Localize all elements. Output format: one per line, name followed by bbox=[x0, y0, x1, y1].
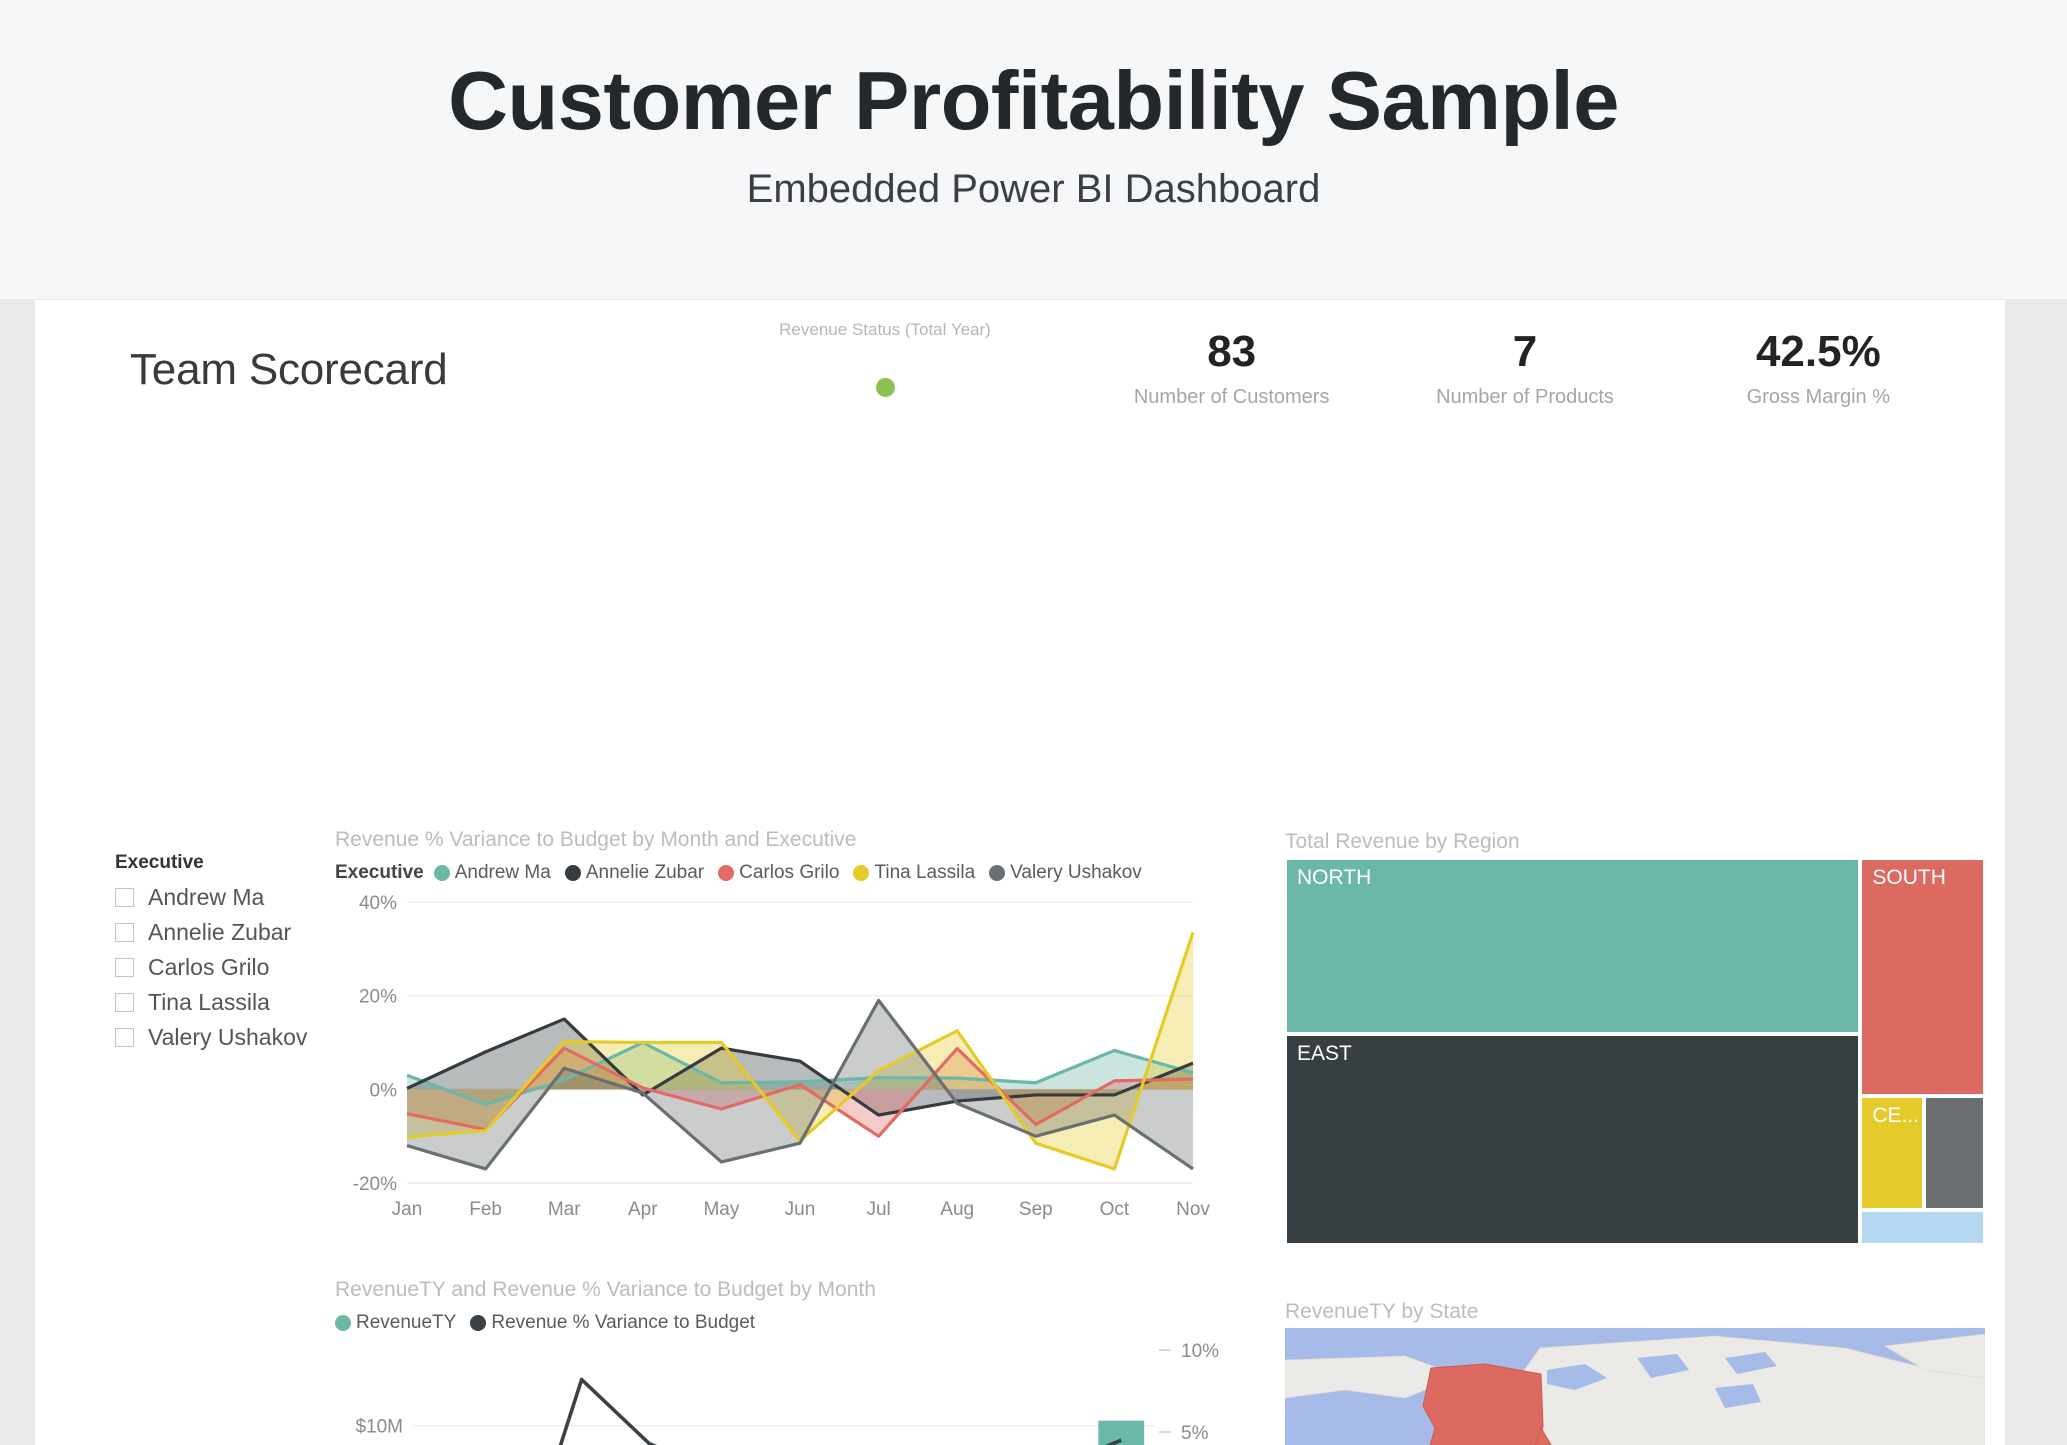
svg-text:Feb: Feb bbox=[469, 1199, 502, 1220]
slicer-item-label: Valery Ushakov bbox=[148, 1024, 307, 1051]
svg-text:5%: 5% bbox=[1181, 1423, 1209, 1444]
checkbox-icon[interactable] bbox=[115, 923, 134, 942]
legend-color-dot-icon bbox=[565, 865, 581, 881]
kpi-number-of-products[interactable]: 7 Number of Products bbox=[1378, 328, 1671, 409]
legend-color-dot-icon bbox=[989, 865, 1005, 881]
page-header: Customer Profitability Sample Embedded P… bbox=[0, 0, 2067, 300]
legend-item-carlos-grilo[interactable]: Carlos Grilo bbox=[718, 862, 839, 884]
svg-text:Oct: Oct bbox=[1100, 1199, 1130, 1220]
legend-item-valery-ushakov[interactable]: Valery Ushakov bbox=[989, 862, 1142, 884]
legend-color-dot-icon bbox=[335, 1315, 351, 1331]
area-chart-plot: -20%0%20%40%JanFebMarAprMayJunJulAugSepO… bbox=[335, 884, 1215, 1229]
page-subtitle: Embedded Power BI Dashboard bbox=[747, 167, 1321, 212]
treemap-cell-north[interactable]: NORTH bbox=[1285, 858, 1860, 1034]
slicer-item-label: Carlos Grilo bbox=[148, 954, 269, 981]
slicer-item-list: Andrew MaAnnelie ZubarCarlos GriloTina L… bbox=[115, 884, 335, 1051]
svg-text:Jun: Jun bbox=[785, 1199, 816, 1220]
slicer-item-label: Annelie Zubar bbox=[148, 919, 291, 946]
legend-item-label: Revenue % Variance to Budget bbox=[491, 1312, 755, 1334]
green-status-dot-icon bbox=[876, 378, 895, 397]
slicer-item-tina-lassila[interactable]: Tina Lassila bbox=[115, 989, 335, 1016]
combo-chart-plot: $0M$5M$10M-10%-5%0%5%10%JanFebMarAprMayJ… bbox=[335, 1334, 1275, 1445]
legend-item-annelie-zubar[interactable]: Annelie Zubar bbox=[565, 862, 704, 884]
svg-text:$10M: $10M bbox=[355, 1417, 403, 1438]
legend-item-label: Carlos Grilo bbox=[739, 862, 839, 884]
map-geometry bbox=[1285, 1328, 1985, 1445]
legend-item-label: Andrew Ma bbox=[455, 862, 551, 884]
kpi-label: Number of Products bbox=[1378, 386, 1671, 409]
visual-title: RevenueTY by State bbox=[1285, 1300, 1985, 1324]
treemap-cell[interactable] bbox=[1860, 1210, 1985, 1245]
kpi-value: 83 bbox=[1085, 328, 1378, 376]
kpi-gross-margin-pct[interactable]: 42.5% Gross Margin % bbox=[1672, 328, 1965, 409]
treemap-cell-ce[interactable]: CE... bbox=[1860, 1096, 1924, 1210]
svg-text:Mar: Mar bbox=[548, 1199, 581, 1220]
revenue-by-region-treemap[interactable]: Total Revenue by Region NORTHEASTSOUTHCE… bbox=[1285, 830, 1985, 1250]
svg-text:May: May bbox=[703, 1199, 739, 1220]
legend-item-revenue-variance-to-budget[interactable]: Revenue % Variance to Budget bbox=[470, 1312, 755, 1334]
scorecard-title: Team Scorecard bbox=[130, 345, 448, 395]
chart-legend[interactable]: ExecutiveAndrew MaAnnelie ZubarCarlos Gr… bbox=[335, 862, 1215, 884]
checkbox-icon[interactable] bbox=[115, 993, 134, 1012]
legend-color-dot-icon bbox=[470, 1315, 486, 1331]
kpi-value: 42.5% bbox=[1672, 328, 1965, 376]
legend-item-label: RevenueTY bbox=[356, 1312, 456, 1334]
treemap-cell[interactable] bbox=[1924, 1096, 1985, 1210]
treemap-cell-label: SOUTH bbox=[1872, 866, 1946, 890]
executive-slicer[interactable]: Executive Andrew MaAnnelie ZubarCarlos G… bbox=[115, 852, 335, 1059]
revenue-status-card[interactable]: Revenue Status (Total Year) bbox=[755, 320, 1015, 397]
svg-text:Aug: Aug bbox=[940, 1199, 974, 1220]
treemap-cell-south[interactable]: SOUTH bbox=[1860, 858, 1985, 1096]
svg-text:40%: 40% bbox=[359, 893, 397, 914]
visual-title: RevenueTY and Revenue % Variance to Budg… bbox=[335, 1278, 1275, 1302]
legend-item-andrew-ma[interactable]: Andrew Ma bbox=[434, 862, 551, 884]
legend-color-dot-icon bbox=[718, 865, 734, 881]
treemap-cell-label: NORTH bbox=[1297, 866, 1371, 890]
treemap-cell-label: CE... bbox=[1872, 1104, 1919, 1128]
report-container: Team Scorecard Revenue Status (Total Yea… bbox=[0, 300, 2067, 1445]
kpi-number-of-customers[interactable]: 83 Number of Customers bbox=[1085, 328, 1378, 409]
kpi-label: Gross Margin % bbox=[1672, 386, 1965, 409]
revenue-variance-area-chart[interactable]: Revenue % Variance to Budget by Month an… bbox=[335, 828, 1215, 1248]
powerbi-report-canvas[interactable]: Team Scorecard Revenue Status (Total Yea… bbox=[35, 300, 2005, 1445]
svg-text:10%: 10% bbox=[1181, 1341, 1219, 1362]
legend-item-revenuety[interactable]: RevenueTY bbox=[335, 1312, 456, 1334]
slicer-item-andrew-ma[interactable]: Andrew Ma bbox=[115, 884, 335, 911]
slicer-item-annelie-zubar[interactable]: Annelie Zubar bbox=[115, 919, 335, 946]
legend-item-label: Tina Lassila bbox=[874, 862, 975, 884]
checkbox-icon[interactable] bbox=[115, 1028, 134, 1047]
right-scrollbar-gutter[interactable] bbox=[2005, 300, 2067, 1445]
legend-item-tina-lassila[interactable]: Tina Lassila bbox=[853, 862, 975, 884]
svg-text:Sep: Sep bbox=[1019, 1199, 1053, 1220]
svg-text:0%: 0% bbox=[370, 1080, 398, 1101]
visual-title: Total Revenue by Region bbox=[1285, 830, 1985, 854]
map-canvas[interactable]: NORTH AMERICA PacificOcean AO Microsoft … bbox=[1285, 1328, 1985, 1445]
kpi-row: 83 Number of Customers 7 Number of Produ… bbox=[1085, 328, 1965, 409]
treemap-cell-east[interactable]: EAST bbox=[1285, 1034, 1860, 1245]
svg-text:20%: 20% bbox=[359, 987, 397, 1008]
slicer-item-label: Tina Lassila bbox=[148, 989, 270, 1016]
left-gutter bbox=[0, 300, 35, 1445]
slicer-item-label: Andrew Ma bbox=[148, 884, 264, 911]
checkbox-icon[interactable] bbox=[115, 958, 134, 977]
slicer-item-valery-ushakov[interactable]: Valery Ushakov bbox=[115, 1024, 335, 1051]
legend-title: Executive bbox=[335, 862, 424, 884]
slicer-item-carlos-grilo[interactable]: Carlos Grilo bbox=[115, 954, 335, 981]
visual-title: Revenue % Variance to Budget by Month an… bbox=[335, 828, 1215, 852]
checkbox-icon[interactable] bbox=[115, 888, 134, 907]
svg-text:Nov: Nov bbox=[1176, 1199, 1210, 1220]
svg-text:Apr: Apr bbox=[628, 1199, 658, 1220]
treemap-plot: NORTHEASTSOUTHCE... bbox=[1285, 858, 1985, 1245]
legend-item-label: Annelie Zubar bbox=[586, 862, 704, 884]
legend-color-dot-icon bbox=[853, 865, 869, 881]
legend-item-label: Valery Ushakov bbox=[1010, 862, 1142, 884]
revenue-by-state-map[interactable]: RevenueTY by State bbox=[1285, 1300, 1985, 1445]
slicer-header: Executive bbox=[115, 852, 335, 874]
revenue-status-caption: Revenue Status (Total Year) bbox=[755, 320, 1015, 340]
svg-text:Jul: Jul bbox=[866, 1199, 890, 1220]
svg-text:-20%: -20% bbox=[353, 1174, 397, 1195]
page-title: Customer Profitability Sample bbox=[448, 59, 1619, 144]
legend-color-dot-icon bbox=[434, 865, 450, 881]
chart-legend[interactable]: RevenueTYRevenue % Variance to Budget bbox=[335, 1312, 1275, 1334]
treemap-cell-label: EAST bbox=[1297, 1042, 1352, 1066]
kpi-value: 7 bbox=[1378, 328, 1671, 376]
revenue-combo-chart[interactable]: RevenueTY and Revenue % Variance to Budg… bbox=[335, 1278, 1275, 1445]
kpi-label: Number of Customers bbox=[1085, 386, 1378, 409]
svg-text:Jan: Jan bbox=[392, 1199, 423, 1220]
